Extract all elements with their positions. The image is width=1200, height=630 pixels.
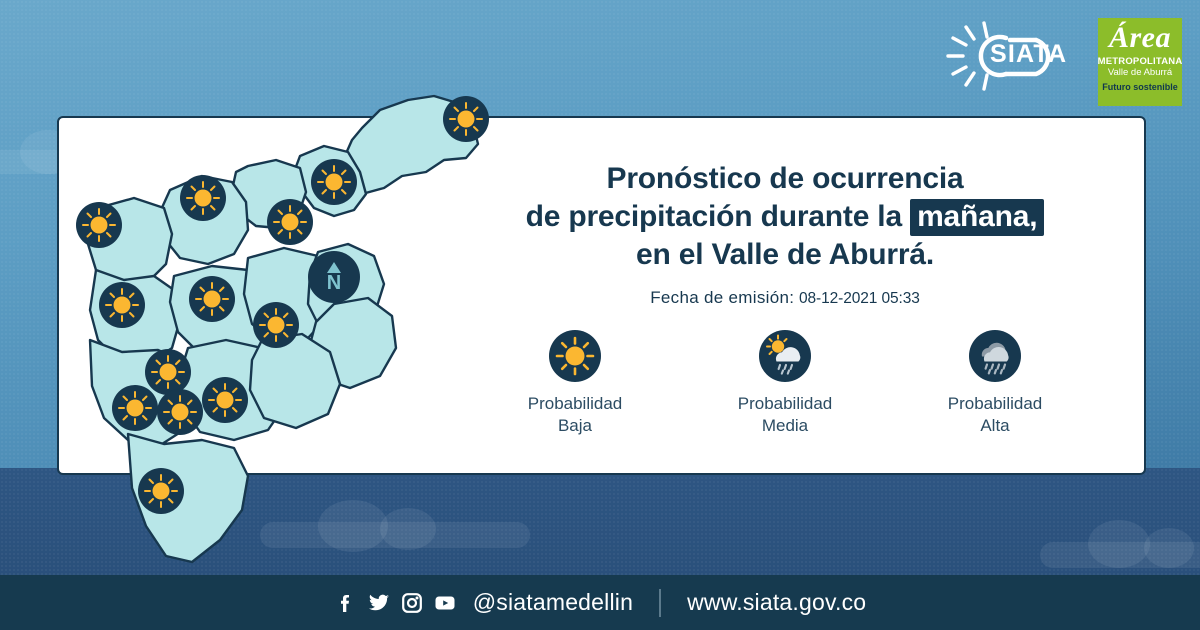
emission-date-label: Fecha de emisión:	[650, 288, 794, 307]
rain-cloud-glyph	[969, 330, 1021, 382]
valle-de-aburra-map: N	[62, 48, 482, 568]
youtube-icon[interactable]	[433, 591, 457, 615]
amva-line-1: METROPOLITANA	[1098, 56, 1183, 67]
sun-behind-rain-cloud-icon	[759, 330, 811, 382]
sun-icon	[443, 96, 489, 142]
title-line-3: en el Valle de Aburrá.	[455, 236, 1115, 274]
map-marker	[180, 175, 226, 221]
sun-icon	[267, 199, 313, 245]
legend-label-line1: Probabilidad	[948, 393, 1043, 415]
legend-label-line2: Baja	[528, 415, 623, 437]
footer-bar: @siatamedellin www.siata.gov.co	[0, 575, 1200, 630]
page-title: Pronóstico de ocurrencia de precipitació…	[455, 160, 1115, 274]
probability-legend: Probabilidad Baja	[470, 330, 1100, 437]
legend-label-line2: Alta	[948, 415, 1043, 437]
sun-icon	[157, 389, 203, 435]
website-url[interactable]: www.siata.gov.co	[687, 589, 866, 616]
title-line-1: Pronóstico de ocurrencia	[455, 160, 1115, 198]
compass-north-icon: N	[308, 251, 360, 303]
legend-label-line2: Media	[738, 415, 833, 437]
siata-logo: SIATA	[944, 18, 1084, 94]
compass-label: N	[327, 274, 341, 292]
sun-cloud-rain-glyph	[759, 330, 811, 382]
social-handle[interactable]: @siatamedellin	[473, 589, 633, 616]
sun-icon	[202, 377, 248, 423]
title-line-2-text: de precipitación durante la	[526, 200, 911, 233]
map-marker	[112, 385, 158, 431]
amva-script-text: Área	[1109, 20, 1171, 56]
map-marker	[311, 159, 357, 205]
sun-icon	[253, 302, 299, 348]
map-marker	[253, 302, 299, 348]
sun-glyph	[549, 330, 601, 382]
amva-line-2: Valle de Aburrá	[1108, 67, 1172, 78]
twitter-icon[interactable]	[367, 591, 391, 615]
headline-block: Pronóstico de ocurrencia de precipitació…	[455, 160, 1115, 308]
legend-label-alta: Probabilidad Alta	[948, 393, 1043, 437]
map-marker	[99, 282, 145, 328]
legend-label-line1: Probabilidad	[528, 393, 623, 415]
sun-icon	[180, 175, 226, 221]
legend-item-alta: Probabilidad Alta	[890, 330, 1100, 437]
sun-icon	[189, 276, 235, 322]
emission-date-value: 08-12-2021 05:33	[799, 290, 920, 307]
infographic-canvas: SIATA Área METROPOLITANA Valle de Aburrá…	[0, 0, 1200, 630]
sun-icon	[112, 385, 158, 431]
facebook-icon[interactable]	[334, 591, 358, 615]
legend-label-baja: Probabilidad Baja	[528, 393, 623, 437]
title-line-2: de precipitación durante la mañana,	[455, 198, 1115, 236]
footer-divider	[659, 589, 661, 617]
legend-label-line1: Probabilidad	[738, 393, 833, 415]
legend-item-baja: Probabilidad Baja	[470, 330, 680, 437]
map-marker	[157, 389, 203, 435]
map-marker	[202, 377, 248, 423]
amva-line-3: Futuro sostenible	[1102, 82, 1178, 93]
map-marker	[76, 202, 122, 248]
legend-label-media: Probabilidad Media	[738, 393, 833, 437]
sun-icon	[99, 282, 145, 328]
sun-icon	[311, 159, 357, 205]
map-marker	[267, 199, 313, 245]
map-marker	[189, 276, 235, 322]
title-highlight: mañana,	[910, 199, 1044, 236]
sun-icon	[549, 330, 601, 382]
instagram-icon[interactable]	[400, 591, 424, 615]
siata-wordmark: SIATA	[990, 40, 1067, 69]
logo-row: SIATA Área METROPOLITANA Valle de Aburrá…	[944, 18, 1182, 106]
social-icons	[334, 591, 457, 615]
sun-icon	[138, 468, 184, 514]
sun-icon	[76, 202, 122, 248]
legend-item-media: Probabilidad Media	[680, 330, 890, 437]
emission-date: Fecha de emisión: 08-12-2021 05:33	[455, 288, 1115, 308]
amva-logo: Área METROPOLITANA Valle de Aburrá Futur…	[1098, 18, 1182, 106]
map-marker	[138, 468, 184, 514]
map-marker	[443, 96, 489, 142]
rain-cloud-icon	[969, 330, 1021, 382]
